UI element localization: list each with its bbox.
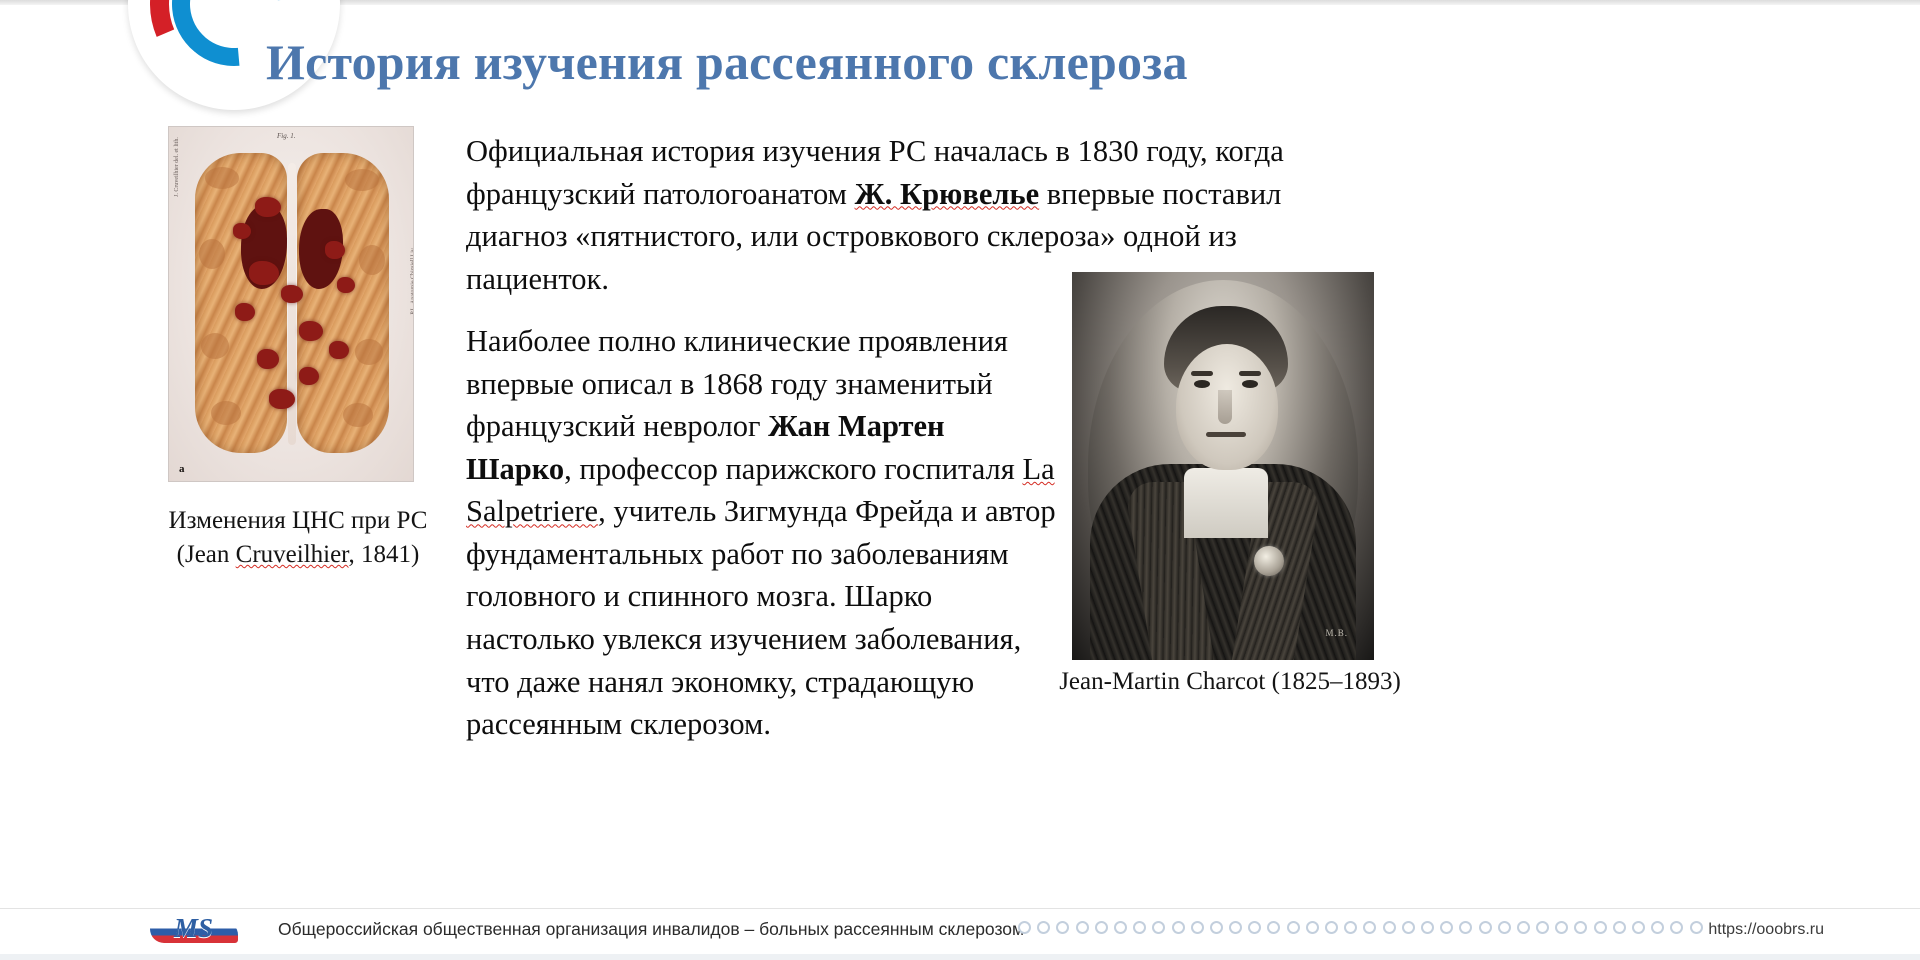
footer-dot-rail xyxy=(1018,921,1703,934)
presentation-slide: История изучения рассеянного склероза Fi… xyxy=(0,0,1920,960)
lesion-plaque xyxy=(281,285,303,303)
brain-plate-image: Fig. 1. J. Cruveilhier del. et lith. P.L… xyxy=(168,126,414,482)
footer-dot xyxy=(1344,921,1357,934)
footer-dot xyxy=(1363,921,1376,934)
footer-dot xyxy=(1076,921,1089,934)
footer-baseline xyxy=(0,954,1920,960)
portrait-brow-left xyxy=(1191,371,1213,376)
plate-figure-label: Fig. 1. xyxy=(277,132,295,140)
cortex-fold xyxy=(345,169,379,191)
lesion-plaque xyxy=(325,241,345,259)
footer-dot xyxy=(1498,921,1511,934)
portrait-brow-right xyxy=(1239,371,1261,376)
lesion-plaque xyxy=(337,277,355,293)
footer-dot xyxy=(1152,921,1165,934)
brain-cross-section xyxy=(195,153,389,453)
footer-dot xyxy=(1133,921,1146,934)
footer-dot xyxy=(1018,921,1031,934)
brain-hemisphere-right xyxy=(297,153,389,453)
lesion-plaque xyxy=(249,261,279,285)
slide-footer: MS Общероссийская общественная организац… xyxy=(0,908,1920,960)
lesion-plaque xyxy=(257,349,279,369)
footer-dot xyxy=(1536,921,1549,934)
footer-dot xyxy=(1037,921,1050,934)
plate-margin-right-text: P.L. Anatomie Chimiell.Liv. xyxy=(411,247,414,315)
lesion-plaque xyxy=(235,303,255,321)
footer-dot xyxy=(1172,921,1185,934)
footer-dot xyxy=(1632,921,1645,934)
caption-line-2-open: (Jean xyxy=(177,541,236,568)
charcot-portrait-image: M.B. xyxy=(1072,272,1374,660)
lesion-plaque xyxy=(299,321,323,341)
page-title: История изучения рассеянного склероза xyxy=(266,34,1446,90)
caption-line-1: Изменения ЦНС при РС xyxy=(169,507,428,534)
lesion-plaque xyxy=(299,367,319,385)
lesion-plaque xyxy=(329,341,349,359)
portrait-mouth xyxy=(1206,432,1246,437)
footer-dot xyxy=(1056,921,1069,934)
footer-dot xyxy=(1267,921,1280,934)
caption-spellcheck-word: Cruveilhier xyxy=(236,541,349,568)
footer-dot xyxy=(1248,921,1261,934)
footer-dot xyxy=(1517,921,1530,934)
lesion-plaque xyxy=(255,197,281,217)
portrait-nose xyxy=(1218,390,1232,424)
footer-dot xyxy=(1421,921,1434,934)
p2-part2: , профессор парижского госпиталя xyxy=(564,452,1022,486)
charcot-portrait-caption: Jean-Martin Charcot (1825–1893) xyxy=(1030,668,1430,696)
footer-dot xyxy=(1670,921,1683,934)
footer-dot xyxy=(1613,921,1626,934)
footer-dot xyxy=(1210,921,1223,934)
footer-dot xyxy=(1306,921,1319,934)
paragraph-charcot: Наиболее полно клинические проявления вп… xyxy=(466,320,1056,745)
footer-content: MS Общероссийская общественная организац… xyxy=(0,909,1920,953)
cortex-fold xyxy=(355,339,383,365)
portrait-collar xyxy=(1184,468,1268,538)
footer-dot xyxy=(1651,921,1664,934)
footer-dot xyxy=(1440,921,1453,934)
footer-dot xyxy=(1325,921,1338,934)
p1-bold-name: Ж. Крювелье xyxy=(855,177,1040,211)
footer-dot xyxy=(1095,921,1108,934)
cortex-fold xyxy=(199,239,225,269)
portrait-medal xyxy=(1254,546,1284,576)
footer-dot xyxy=(1594,921,1607,934)
portrait-eye-right xyxy=(1242,380,1258,388)
footer-dot xyxy=(1402,921,1415,934)
footer-dot xyxy=(1287,921,1300,934)
footer-dot xyxy=(1229,921,1242,934)
footer-dot xyxy=(1191,921,1204,934)
cortex-fold xyxy=(205,167,239,189)
footer-dot xyxy=(1574,921,1587,934)
cortex-fold xyxy=(211,401,241,425)
plate-margin-left-text: J. Cruveilhier del. et lith. xyxy=(174,137,180,197)
footer-dot xyxy=(1114,921,1127,934)
portrait-eye-left xyxy=(1194,380,1210,388)
lesion-plaque xyxy=(269,389,295,409)
cortex-fold xyxy=(359,245,385,275)
portrait-signature: M.B. xyxy=(1325,628,1348,638)
footer-dot xyxy=(1479,921,1492,934)
brain-plate-caption: Изменения ЦНС при РС (Jean Cruveilhier, … xyxy=(148,504,448,572)
organization-logo: MS xyxy=(150,913,238,949)
organization-name: Общероссийская общественная организация … xyxy=(278,919,1024,940)
cortex-fold xyxy=(201,333,229,359)
lesion-plaque xyxy=(233,223,251,239)
footer-dot xyxy=(1383,921,1396,934)
footer-dot xyxy=(1459,921,1472,934)
footer-url: https://ooobrs.ru xyxy=(1708,921,1824,939)
cortex-fold xyxy=(343,403,373,427)
ms-monogram: MS xyxy=(174,913,213,944)
footer-dot xyxy=(1690,921,1703,934)
caption-line-2-close: , 1841) xyxy=(349,541,420,568)
footer-dot xyxy=(1555,921,1568,934)
p2-part3: , учитель Зигмунда Фрейда и автор фундам… xyxy=(466,494,1056,741)
plate-corner-label: a xyxy=(179,463,185,475)
